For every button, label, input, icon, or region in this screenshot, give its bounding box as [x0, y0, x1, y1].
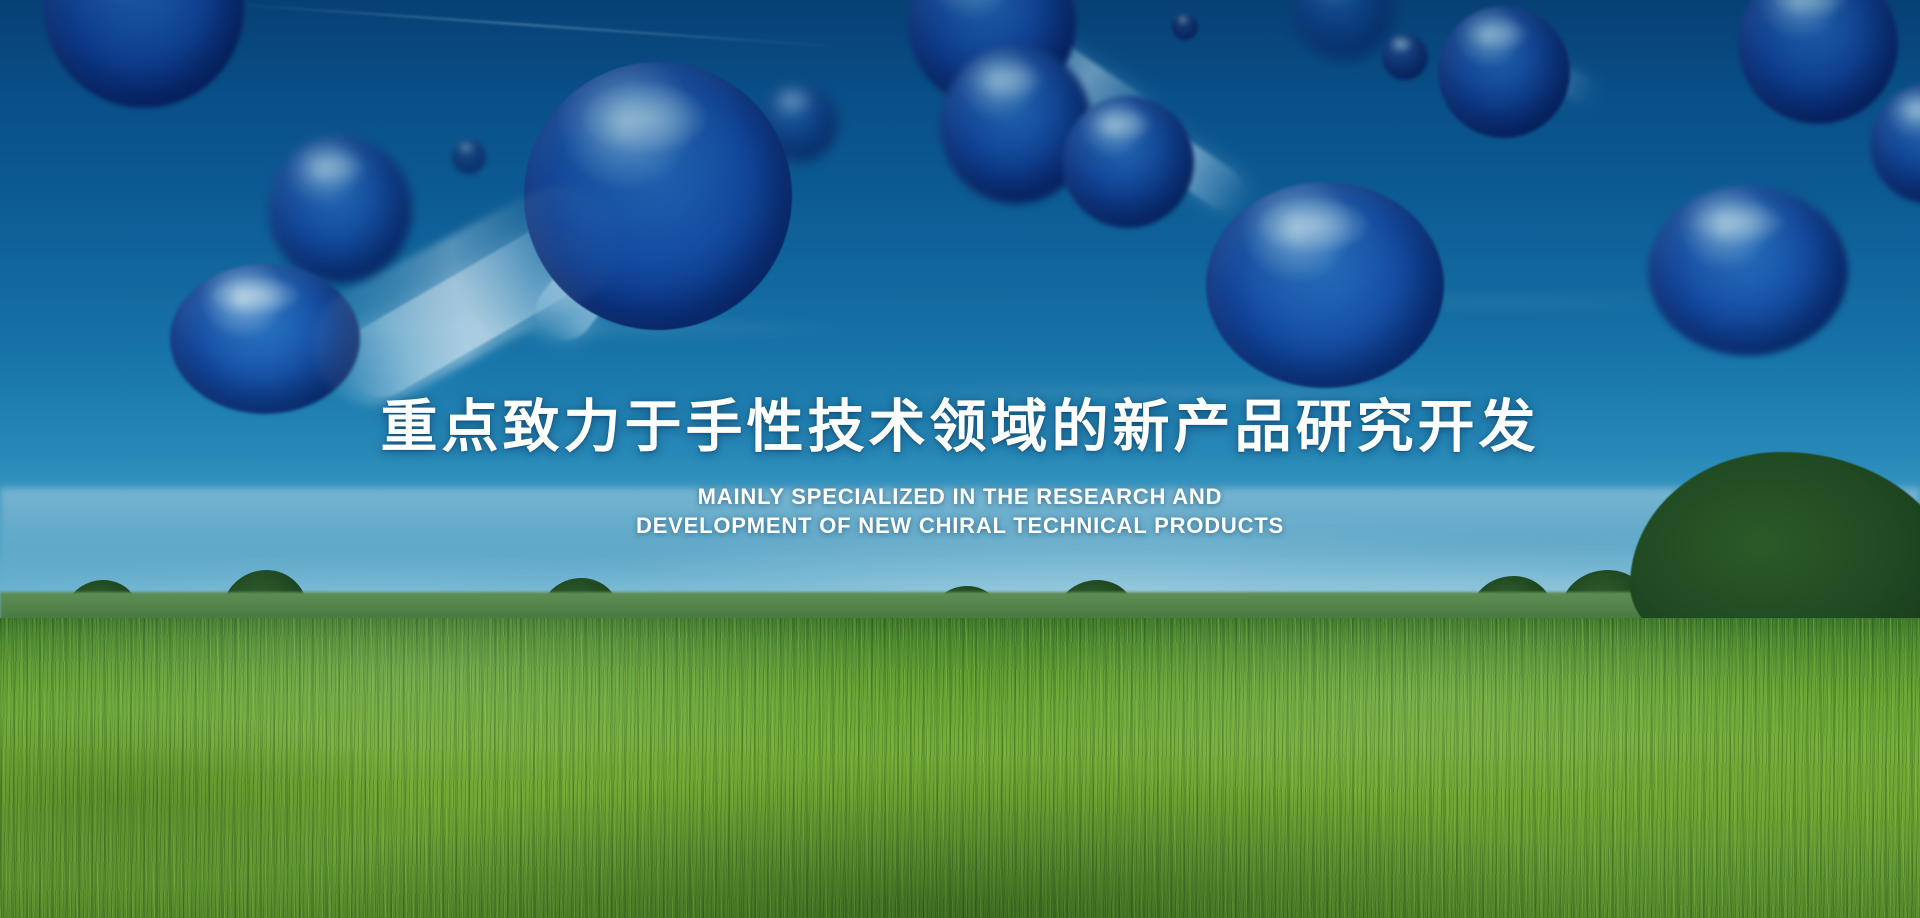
- molecule-atom: [1062, 96, 1194, 228]
- molecule-atom: [1172, 14, 1198, 40]
- hero-banner: 重点致力于手性技术领域的新产品研究开发 MAINLY SPECIALIZED I…: [0, 0, 1920, 918]
- molecule-atom: [1648, 186, 1848, 356]
- hero-copy-block: 重点致力于手性技术领域的新产品研究开发 MAINLY SPECIALIZED I…: [0, 396, 1920, 541]
- hero-subtitle-english: MAINLY SPECIALIZED IN THE RESEARCH AND D…: [0, 482, 1920, 541]
- molecule-atom: [1206, 182, 1444, 388]
- field-shading: [0, 618, 1920, 918]
- landscape-photo: [0, 488, 1920, 918]
- hero-headline-chinese: 重点致力于手性技术领域的新产品研究开发: [0, 396, 1920, 460]
- molecule-atom: [44, 0, 244, 108]
- molecule-atom: [1294, 0, 1394, 60]
- contrail-streak: [221, 2, 840, 47]
- molecule-atom: [1438, 6, 1570, 138]
- grass-field: [0, 618, 1920, 918]
- molecule-atom: [452, 140, 486, 174]
- hero-subtitle-line-1: MAINLY SPECIALIZED IN THE RESEARCH AND: [0, 482, 1920, 511]
- molecule-atom: [170, 264, 360, 414]
- molecule-atom: [268, 136, 412, 284]
- molecule-atom: [1382, 34, 1428, 80]
- molecule-atom: [524, 62, 792, 330]
- molecule-atom: [1738, 0, 1898, 124]
- molecule-atom: [1870, 84, 1920, 204]
- hero-subtitle-line-2: DEVELOPMENT OF NEW CHIRAL TECHNICAL PROD…: [0, 511, 1920, 540]
